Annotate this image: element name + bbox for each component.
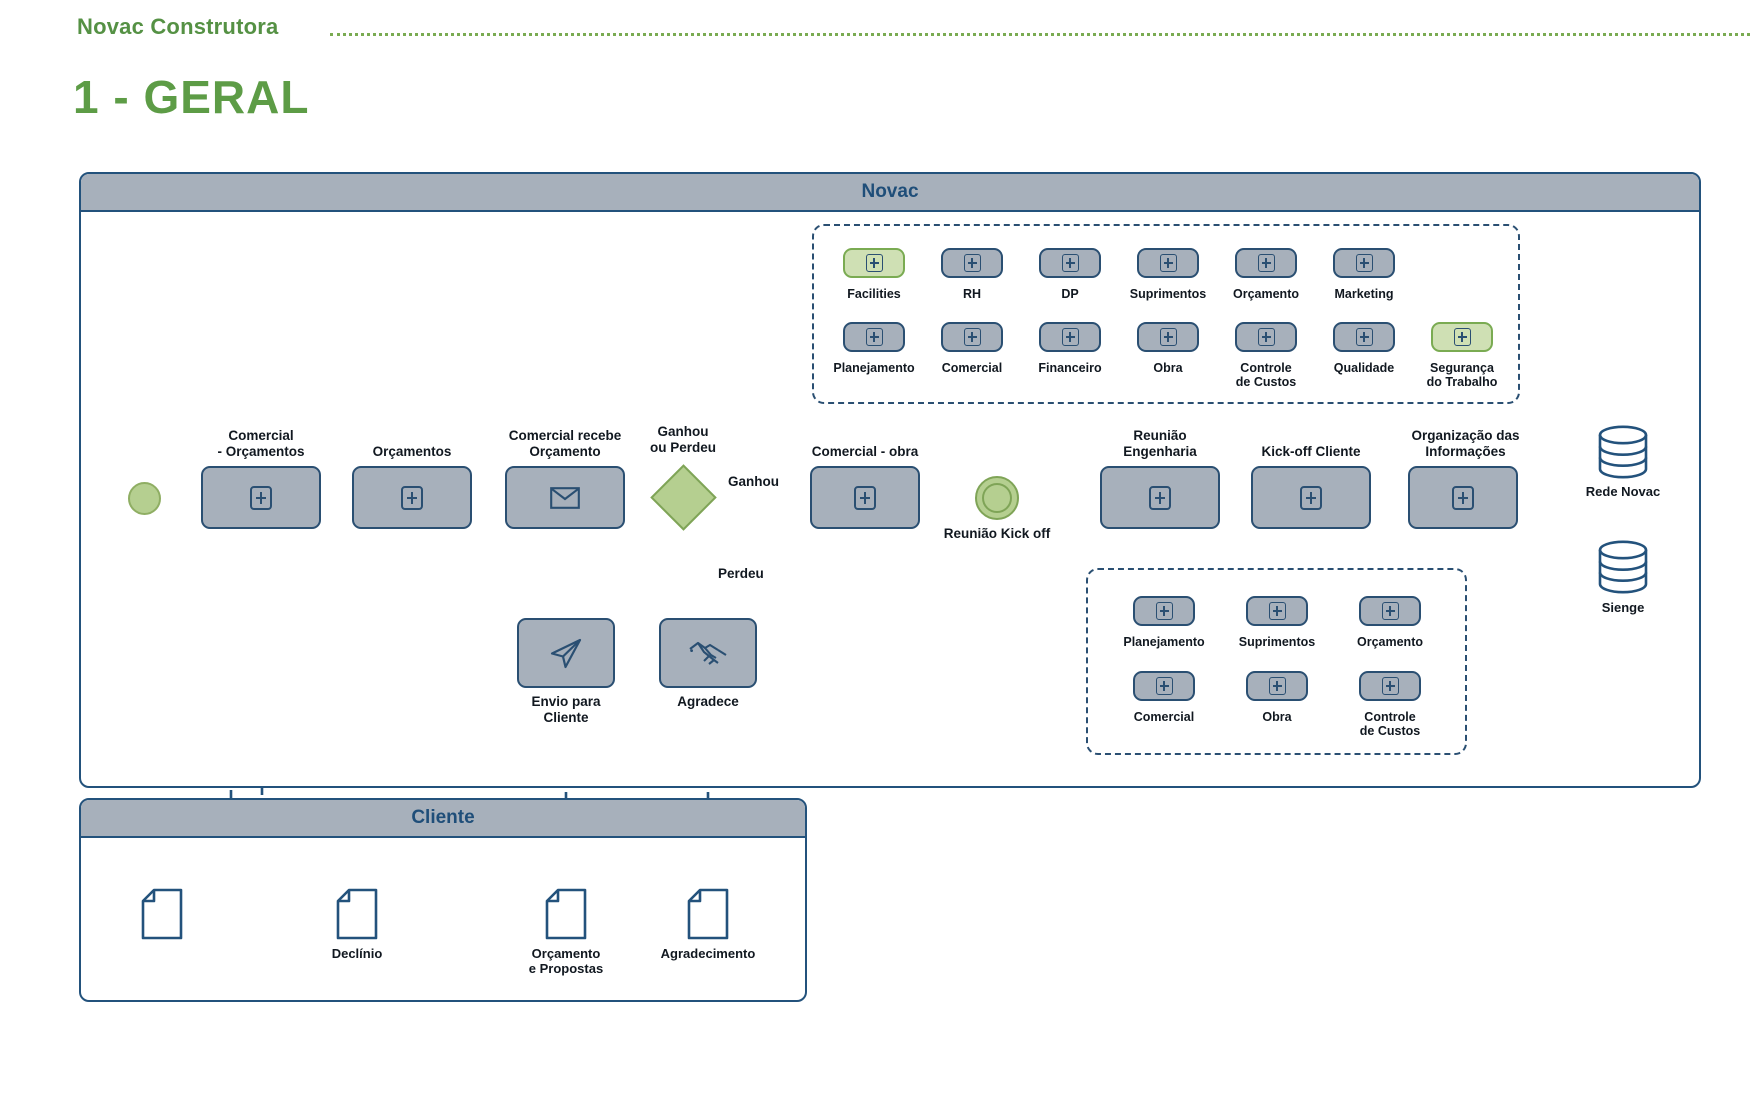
- flow-label-perdeu: Perdeu: [718, 566, 764, 581]
- document-declinio[interactable]: [336, 888, 378, 940]
- task-reuniao-engenharia[interactable]: [1100, 466, 1220, 529]
- chip-controle-de-custos-bottom[interactable]: [1359, 671, 1421, 701]
- document-icon: [687, 888, 729, 940]
- task-label-envio-para-cliente: Envio para Cliente: [486, 694, 646, 726]
- chip-label-seguranca-do-trabalho: Segurança do Trabalho: [1391, 361, 1533, 389]
- handshake-icon: [687, 637, 729, 669]
- chip-suprimentos[interactable]: [1137, 248, 1199, 278]
- plus-subprocess-icon: [1382, 677, 1399, 695]
- gateway-label-ganhou-ou-perdeu: Ganhou ou Perdeu: [603, 424, 763, 456]
- chip-orcamento-bottom[interactable]: [1359, 596, 1421, 626]
- plus-subprocess-icon: [1258, 328, 1275, 346]
- header-dotted-rule: [330, 33, 1750, 39]
- diagram-canvas: Novac Construtora 1 - GERAL: [0, 0, 1750, 1101]
- plus-subprocess-icon: [1062, 328, 1079, 346]
- task-comercial-recebe-orcamento[interactable]: [505, 466, 625, 529]
- plus-subprocess-icon: [1300, 486, 1322, 510]
- plus-subprocess-icon: [1160, 328, 1177, 346]
- plus-subprocess-icon: [1454, 328, 1471, 346]
- task-agradece[interactable]: [659, 618, 757, 688]
- document-agradecimento[interactable]: [687, 888, 729, 940]
- plus-subprocess-icon: [1160, 254, 1177, 272]
- flow-label-ganhou: Ganhou: [728, 474, 779, 489]
- envelope-icon: [550, 487, 580, 509]
- chip-dp[interactable]: [1039, 248, 1101, 278]
- plus-subprocess-icon: [1156, 602, 1173, 620]
- datastore-label-sienge: Sienge: [1563, 600, 1683, 615]
- task-organizacao-das-informacoes[interactable]: [1408, 466, 1518, 529]
- plus-subprocess-icon: [866, 254, 883, 272]
- datastore-label-rede-novac: Rede Novac: [1563, 484, 1683, 499]
- chip-planejamento-top[interactable]: [843, 322, 905, 352]
- page-title: 1 - GERAL: [73, 70, 309, 124]
- plus-subprocess-icon: [1269, 602, 1286, 620]
- chip-qualidade[interactable]: [1333, 322, 1395, 352]
- plus-subprocess-icon: [1356, 328, 1373, 346]
- task-label-orcamentos: Orçamentos: [332, 444, 492, 460]
- document-orcamento-e-propostas[interactable]: [545, 888, 587, 940]
- chip-marketing[interactable]: [1333, 248, 1395, 278]
- document-icon: [141, 888, 183, 940]
- plus-subprocess-icon: [1356, 254, 1373, 272]
- chip-comercial-bottom[interactable]: [1133, 671, 1195, 701]
- plus-subprocess-icon: [964, 254, 981, 272]
- database-icon: [1595, 540, 1651, 594]
- chip-obra-bottom[interactable]: [1246, 671, 1308, 701]
- pool-novac-header: Novac: [81, 174, 1699, 212]
- chip-obra-top[interactable]: [1137, 322, 1199, 352]
- document-icon: [545, 888, 587, 940]
- event-label-reuniao-kick-off: Reunião Kick off: [917, 526, 1077, 542]
- task-comercial-obra[interactable]: [810, 466, 920, 529]
- chip-planejamento-bottom[interactable]: [1133, 596, 1195, 626]
- plus-subprocess-icon: [1382, 602, 1399, 620]
- document-label-declinio: Declínio: [287, 946, 427, 961]
- task-label-comercial-orcamentos: Comercial - Orçamentos: [181, 428, 341, 460]
- chip-financeiro[interactable]: [1039, 322, 1101, 352]
- task-orcamentos[interactable]: [352, 466, 472, 529]
- intermediate-event-reuniao-kick-off[interactable]: [975, 476, 1019, 520]
- task-label-comercial-obra: Comercial - obra: [790, 444, 940, 460]
- plus-subprocess-icon: [1149, 486, 1171, 510]
- chip-orcamento-top[interactable]: [1235, 248, 1297, 278]
- chip-rh[interactable]: [941, 248, 1003, 278]
- task-kick-off-cliente[interactable]: [1251, 466, 1371, 529]
- task-comercial-orcamentos[interactable]: [201, 466, 321, 529]
- chip-seguranca-do-trabalho[interactable]: [1431, 322, 1493, 352]
- chip-suprimentos-bottom[interactable]: [1246, 596, 1308, 626]
- document-label-orcamento-e-propostas: Orçamento e Propostas: [496, 946, 636, 977]
- plus-subprocess-icon: [866, 328, 883, 346]
- task-label-reuniao-engenharia: Reunião Engenharia: [1080, 428, 1240, 460]
- datastore-sienge[interactable]: [1595, 540, 1651, 594]
- plus-subprocess-icon: [1452, 486, 1474, 510]
- datastore-rede-novac[interactable]: [1595, 425, 1651, 479]
- document-doc-inicial[interactable]: [141, 888, 183, 940]
- database-icon: [1595, 425, 1651, 479]
- plus-subprocess-icon: [1258, 254, 1275, 272]
- plus-subprocess-icon: [1156, 677, 1173, 695]
- brand-title: Novac Construtora: [77, 14, 278, 40]
- document-label-agradecimento: Agradecimento: [638, 946, 778, 961]
- plus-subprocess-icon: [1269, 677, 1286, 695]
- task-label-kick-off-cliente: Kick-off Cliente: [1231, 444, 1391, 460]
- plus-subprocess-icon: [964, 328, 981, 346]
- chip-label-controle-de-custos-bottom: Controle de Custos: [1319, 710, 1461, 738]
- event-inner-ring: [982, 483, 1012, 513]
- task-envio-para-cliente[interactable]: [517, 618, 615, 688]
- chip-controle-de-custos-top[interactable]: [1235, 322, 1297, 352]
- task-label-agradece: Agradece: [628, 694, 788, 710]
- start-event[interactable]: [128, 482, 161, 515]
- chip-label-orcamento-bottom: Orçamento: [1319, 635, 1461, 649]
- document-icon: [336, 888, 378, 940]
- chip-facilities[interactable]: [843, 248, 905, 278]
- chip-label-marketing: Marketing: [1293, 287, 1435, 301]
- chip-comercial-top[interactable]: [941, 322, 1003, 352]
- task-label-organizacao-das-informacoes: Organização das Informações: [1383, 428, 1548, 460]
- plus-subprocess-icon: [250, 486, 272, 510]
- paper-plane-icon: [547, 634, 585, 672]
- plus-subprocess-icon: [1062, 254, 1079, 272]
- pool-cliente-header: Cliente: [81, 800, 805, 838]
- plus-subprocess-icon: [854, 486, 876, 510]
- plus-subprocess-icon: [401, 486, 423, 510]
